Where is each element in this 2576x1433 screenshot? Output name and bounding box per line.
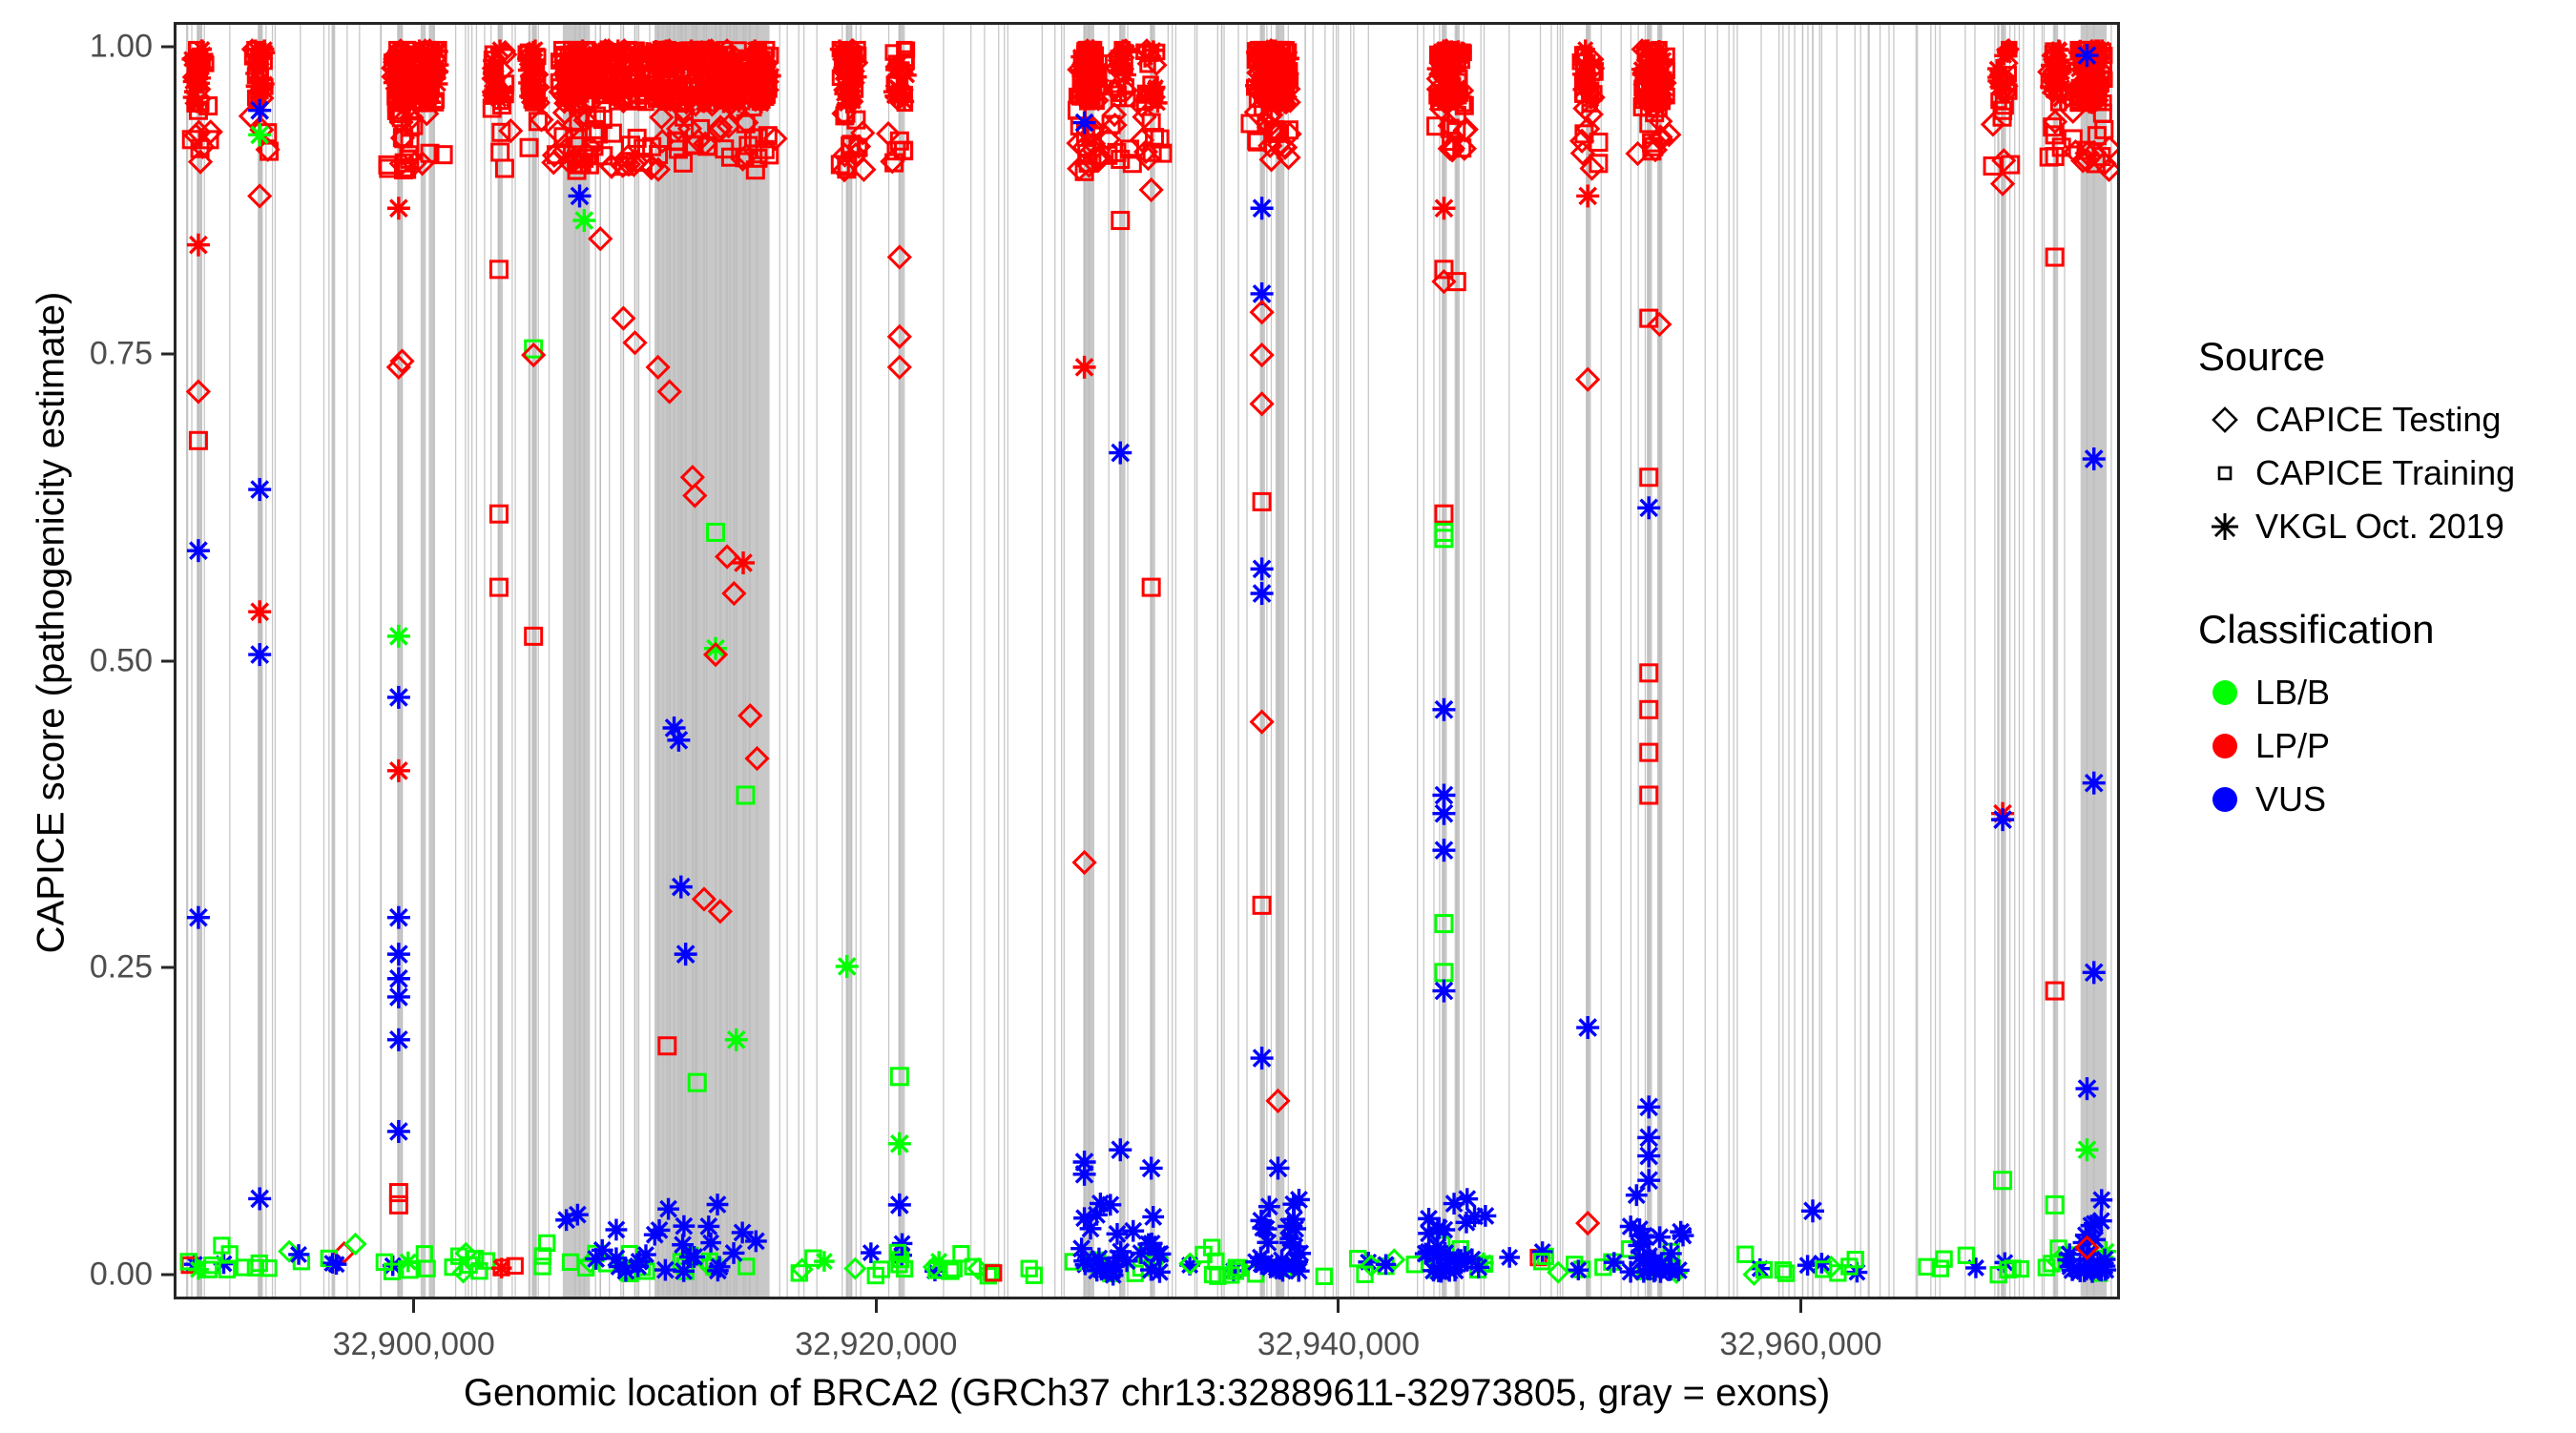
plot-panel	[174, 22, 2120, 1299]
x-tick-mark	[875, 1299, 878, 1313]
data-points	[187, 44, 2106, 1258]
legend-label: LP/P	[2255, 726, 2330, 766]
y-tick-label: 0.25	[90, 949, 153, 986]
legend-item-lbb[interactable]: LB/B	[2194, 666, 2576, 719]
diamond-icon	[2194, 405, 2255, 434]
asterisk-icon	[2194, 510, 2255, 543]
y-tick-mark	[161, 1274, 174, 1277]
square-icon	[2194, 459, 2255, 488]
legend-label: VKGL Oct. 2019	[2255, 507, 2504, 547]
y-axis-title: CAPICE score (pathogenicity estimate)	[31, 0, 73, 1262]
y-axis: CAPICE score (pathogenicity estimate) 0.…	[0, 0, 174, 1431]
x-tick-label: 32,920,000	[795, 1326, 957, 1363]
legend-classification-title: Classification	[2198, 607, 2576, 653]
legend-label: CAPICE Testing	[2255, 400, 2501, 440]
chart-root: CAPICE score (pathogenicity estimate) 0.…	[0, 0, 2576, 1431]
lpp-color-dot-icon	[2194, 734, 2255, 758]
scatter-plot	[177, 25, 2117, 1297]
x-tick-mark	[412, 1299, 415, 1313]
legend-label: VUS	[2255, 779, 2326, 820]
legend-item-capice-testing[interactable]: CAPICE Testing	[2194, 393, 2576, 447]
x-tick-label: 32,960,000	[1719, 1326, 1881, 1363]
variant-stem-lines	[187, 25, 2111, 1297]
y-tick-mark	[161, 659, 174, 662]
legend-item-lpp[interactable]: LP/P	[2194, 719, 2576, 773]
legend-source-title: Source	[2198, 334, 2576, 380]
y-tick-label: 0.00	[90, 1256, 153, 1294]
legend-spacer	[2194, 553, 2576, 607]
legend: Source CAPICE Testing CAPICE Training	[2194, 334, 2576, 826]
y-tick-label: 0.75	[90, 335, 153, 372]
lbb-color-dot-icon	[2194, 680, 2255, 705]
x-tick-label: 32,940,000	[1257, 1326, 1420, 1363]
vus-color-dot-icon	[2194, 787, 2255, 812]
x-axis-title: Genomic location of BRCA2 (GRCh37 chr13:…	[174, 1372, 2120, 1415]
legend-item-vus[interactable]: VUS	[2194, 773, 2576, 826]
y-tick-label: 1.00	[90, 28, 153, 65]
y-tick-mark	[161, 45, 174, 48]
x-tick-mark	[1799, 1299, 1802, 1313]
legend-label: LB/B	[2255, 673, 2330, 713]
legend-item-capice-training[interactable]: CAPICE Training	[2194, 447, 2576, 500]
y-tick-mark	[161, 966, 174, 969]
y-tick-mark	[161, 352, 174, 355]
legend-item-vkgl[interactable]: VKGL Oct. 2019	[2194, 500, 2576, 553]
legend-label: CAPICE Training	[2255, 453, 2515, 493]
x-tick-label: 32,900,000	[333, 1326, 495, 1363]
y-tick-label: 0.50	[90, 642, 153, 679]
x-tick-mark	[1337, 1299, 1340, 1313]
